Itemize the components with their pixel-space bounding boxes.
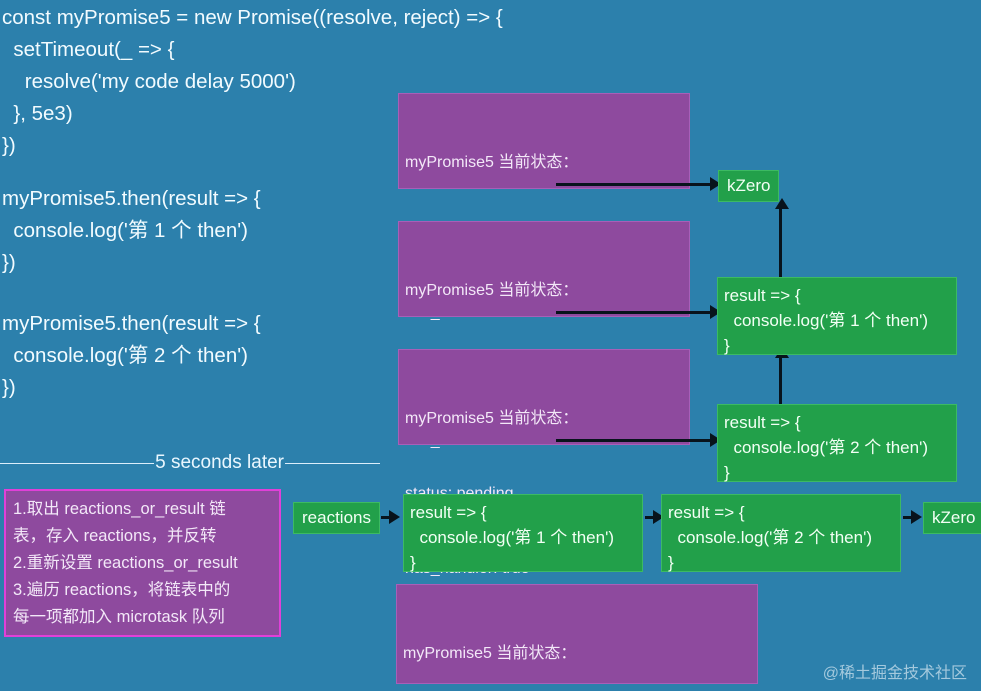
state-box-1-title: myPromise5 当前状态： xyxy=(405,150,689,175)
time-divider: 5 seconds later xyxy=(0,448,380,478)
handler-box-then1-bottom: result => { console.log('第 1 个 then') } xyxy=(403,494,643,572)
state-box-4-fulfilled: myPromise5 当前状态： status: fulfilled has_h… xyxy=(396,584,758,684)
arrowhead-then2-to-kzero-bottom xyxy=(911,510,922,524)
divider-label: 5 seconds later xyxy=(154,452,285,474)
diagram-canvas: const myPromise5 = new Promise((resolve,… xyxy=(0,0,981,691)
divider-rule-right xyxy=(285,463,380,464)
state-box-2: myPromise5 当前状态： status: pending has_han… xyxy=(398,221,690,317)
node-reactions-pill: reactions xyxy=(293,502,380,534)
code-block-then-1: myPromise5.then(result => { console.log(… xyxy=(2,183,261,279)
handler-box-then2-right: result => { console.log('第 2 个 then') } xyxy=(717,404,957,482)
connector-box1-to-kzero xyxy=(556,183,713,186)
state-box-3: myPromise5 当前状态： status: pending has_han… xyxy=(398,349,690,445)
note-box-microtask-steps: 1.取出 reactions_or_result 链 表，存入 reaction… xyxy=(4,489,281,637)
watermark: @稀土掘金技术社区 xyxy=(823,659,967,683)
node-kzero-top: kZero xyxy=(718,170,779,202)
state-box-2-title: myPromise5 当前状态： xyxy=(405,278,689,303)
state-box-3-title: myPromise5 当前状态： xyxy=(405,406,689,431)
code-block-then-2: myPromise5.then(result => { console.log(… xyxy=(2,308,261,404)
connector-box2-to-then1 xyxy=(556,311,713,314)
connector-box3-to-then2 xyxy=(556,439,713,442)
arrowhead-reactions-to-then1 xyxy=(389,510,400,524)
handler-box-then1-right: result => { console.log('第 1 个 then') } xyxy=(717,277,957,355)
handler-box-then2-bottom: result => { console.log('第 2 个 then') } xyxy=(661,494,901,572)
state-box-1: myPromise5 当前状态： status: pending has_han… xyxy=(398,93,690,189)
connector-then1-to-kzero xyxy=(779,206,782,278)
divider-rule-left xyxy=(0,463,154,464)
state-box-4-title: myPromise5 当前状态： xyxy=(403,641,757,666)
node-kzero-bottom: kZero xyxy=(923,502,981,534)
connector-then2-to-then1 xyxy=(779,355,782,405)
